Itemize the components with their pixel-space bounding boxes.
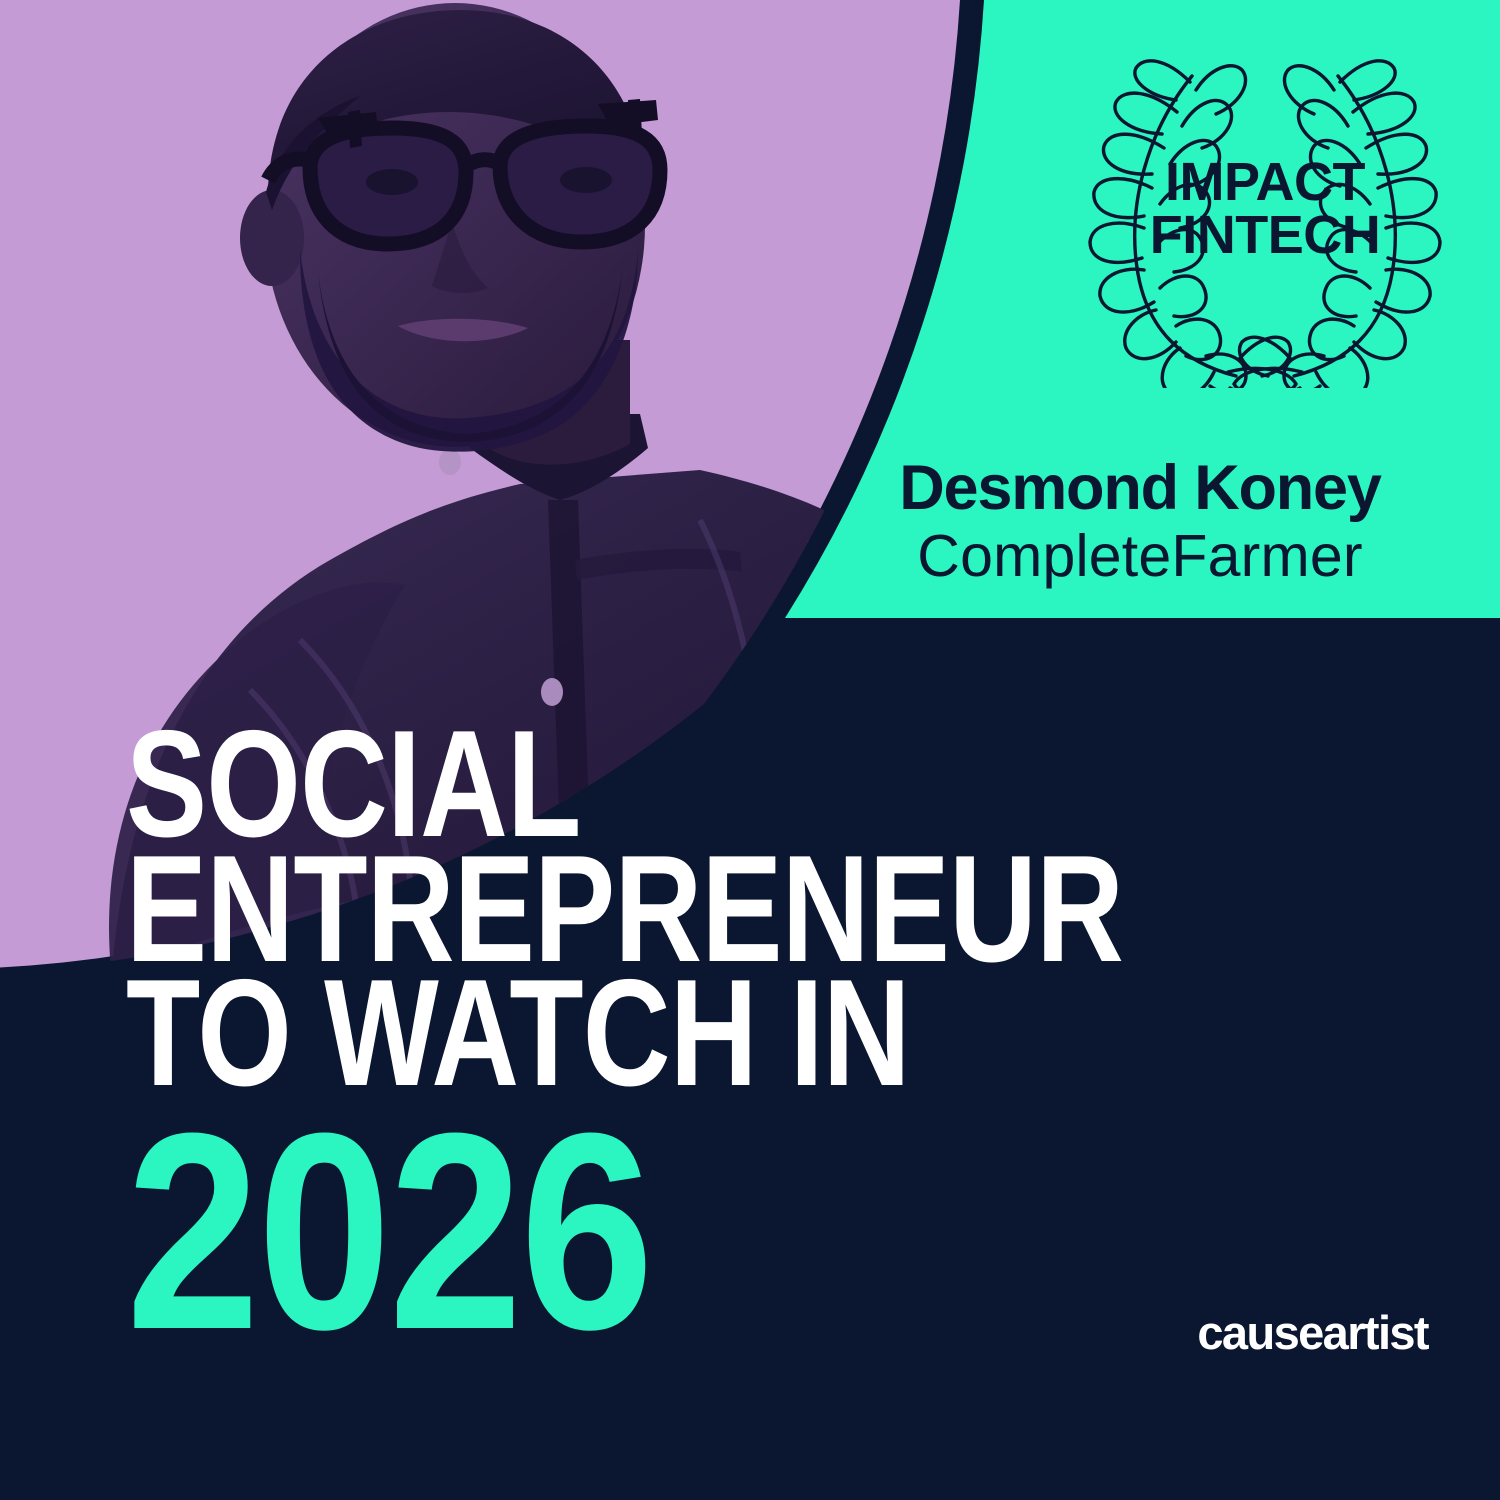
- honoree-name: Desmond Koney: [790, 455, 1490, 521]
- causeartist-logo: causeartist: [1197, 1305, 1428, 1360]
- badge-line-2: FINTECH: [1040, 209, 1490, 262]
- headline-year: 2026: [126, 1118, 651, 1348]
- honoree-info: Desmond Koney CompleteFarmer: [790, 455, 1490, 589]
- award-announcement-card: IMPACT FINTECH Desmond Koney CompleteFar…: [0, 0, 1500, 1500]
- badge-line-1: IMPACT: [1040, 156, 1490, 209]
- eye-left: [366, 169, 418, 195]
- eye-right: [560, 167, 612, 193]
- headline: SOCIAL ENTREPRENEUR TO WATCH IN: [126, 722, 1198, 1096]
- honoree-organization: CompleteFarmer: [790, 523, 1490, 589]
- badge-title: IMPACT FINTECH: [1040, 156, 1490, 262]
- award-badge: IMPACT FINTECH: [1040, 38, 1490, 388]
- shirt-button: [439, 449, 461, 475]
